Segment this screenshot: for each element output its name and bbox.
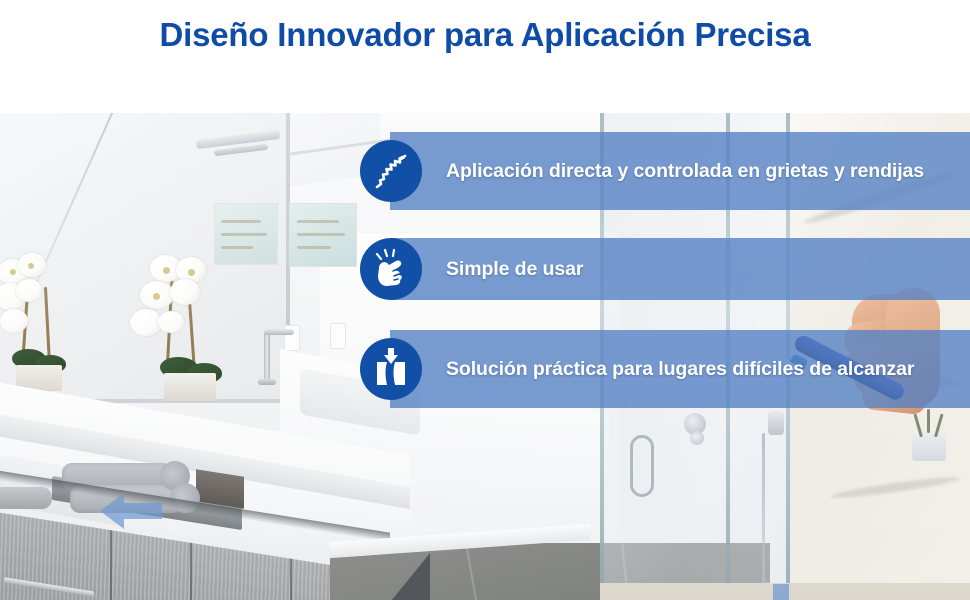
arrow-shower-down [760,584,802,600]
header-band: Diseño Innovador para Aplicación Precisa [0,0,970,113]
faucet-base [258,379,276,385]
shower-door-handle [630,435,654,497]
crack-icon [360,140,422,202]
towel-reflection [0,487,52,509]
orchid-reflection [0,253,82,383]
narrow-gap-arrow-icon [360,338,422,400]
feature-row-3: Solución práctica para lugares difíciles… [360,330,970,408]
shower-hose [762,433,765,583]
hand-shower [768,411,784,435]
feature-row-2: Simple de usar [360,238,970,300]
shower-valve [690,431,704,445]
feature-label: Simple de usar [446,256,583,283]
wall-art-reflection [289,203,357,267]
arrow-towels-left [100,491,162,531]
page-title: Diseño Innovador para Aplicación Precisa [135,14,835,56]
feature-label: Aplicación directa y controlada en griet… [446,158,970,185]
promo-banner: Diseño Innovador para Aplicación Precisa… [0,0,970,600]
power-outlet [330,323,346,349]
feature-row-1: Aplicación directa y controlada en griet… [360,132,970,210]
feature-label: Solución práctica para lugares difíciles… [446,356,970,383]
faucet-spout [264,329,294,335]
faucet [264,331,270,383]
orchid-plant [120,253,230,388]
tapping-hand-icon [360,238,422,300]
